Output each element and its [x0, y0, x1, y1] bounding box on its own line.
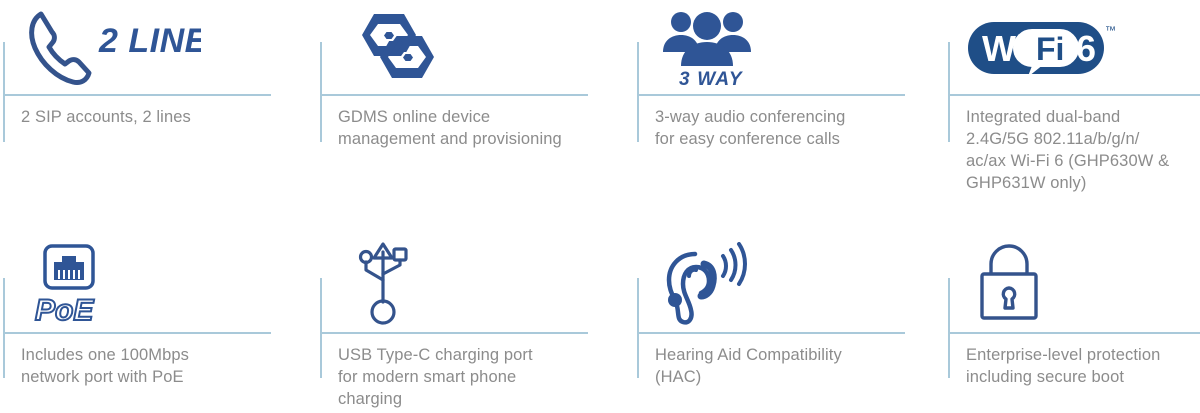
feature-description: Includes one 100Mbps network port with P…: [21, 344, 281, 388]
feature-description: 2 SIP accounts, 2 lines: [21, 106, 276, 128]
cell-horizontal-rule: [3, 332, 271, 334]
feature-card-secure-boot: Enterprise-level protection including se…: [948, 238, 1200, 413]
icon-label-2-lines: 2 LINES: [98, 22, 201, 60]
two-lines-phone-icon: 2 LINES: [21, 10, 201, 88]
icon-container: 2 LINES: [21, 0, 281, 88]
feature-card-hearing-aid: Hearing Aid Compatibility (HAC): [637, 238, 937, 413]
feature-description: Integrated dual-band 2.4G/5G 802.11a/b/g…: [966, 106, 1200, 194]
wifi-6-logo-icon: Wi Fi 6 ™: [966, 16, 1118, 88]
poe-ethernet-port-icon: PoE: [21, 242, 121, 326]
icon-container: [338, 0, 598, 88]
gdms-hexagon-icon: [338, 10, 458, 88]
cell-horizontal-rule: [637, 94, 905, 96]
icon-container: Wi Fi 6 ™: [966, 0, 1200, 88]
cell-vertical-rule: [3, 42, 5, 142]
icon-container: PoE: [21, 238, 281, 326]
feature-description: 3-way audio conferencing for easy confer…: [655, 106, 910, 150]
feature-card-poe: PoE Includes one 100Mbps network port wi…: [3, 238, 303, 413]
feature-description: Hearing Aid Compatibility (HAC): [655, 344, 915, 388]
icon-container: [338, 238, 598, 326]
cell-horizontal-rule: [320, 332, 588, 334]
feature-card-usb-type-c: USB Type-C charging port for modern smar…: [320, 238, 620, 413]
feature-description: GDMS online device management and provis…: [338, 106, 593, 150]
cell-horizontal-rule: [637, 332, 905, 334]
three-people-conference-icon: 3 WAY: [655, 6, 785, 88]
cell-vertical-rule: [320, 278, 322, 378]
feature-card-gdms: GDMS online device management and provis…: [320, 0, 620, 210]
feature-description: Enterprise-level protection including se…: [966, 344, 1200, 388]
cell-horizontal-rule: [3, 94, 271, 96]
feature-description: USB Type-C charging port for modern smar…: [338, 344, 598, 410]
icon-container: [655, 238, 915, 326]
wifi-label-fi: Fi: [1036, 31, 1064, 67]
padlock-icon: [966, 242, 1052, 326]
icon-label-3-way: 3 WAY: [679, 69, 744, 88]
icon-container: [966, 238, 1200, 326]
cell-horizontal-rule: [948, 332, 1200, 334]
icon-container: 3 WAY: [655, 0, 915, 88]
cell-vertical-rule: [637, 278, 639, 378]
icon-label-poe: PoE: [35, 294, 94, 326]
feature-card-wifi-6: Wi Fi 6 ™ Integrated dual-band 2.4G/5G 8…: [948, 0, 1200, 210]
feature-card-2-lines: 2 LINES 2 SIP accounts, 2 lines: [3, 0, 303, 210]
cell-horizontal-rule: [948, 94, 1200, 96]
feature-grid: 2 LINES 2 SIP accounts, 2 lines: [0, 0, 1200, 413]
cell-vertical-rule: [320, 42, 322, 142]
cell-vertical-rule: [3, 278, 5, 378]
feature-card-3-way: 3 WAY 3-way audio conferencing for easy …: [637, 0, 937, 210]
cell-vertical-rule: [637, 42, 639, 142]
wifi-label-six: 6: [1076, 28, 1096, 69]
cell-vertical-rule: [948, 42, 950, 142]
cell-vertical-rule: [948, 278, 950, 378]
usb-trident-icon: [338, 240, 428, 326]
trademark-icon: ™: [1105, 25, 1116, 37]
hearing-aid-ear-icon: [655, 242, 755, 326]
cell-horizontal-rule: [320, 94, 588, 96]
